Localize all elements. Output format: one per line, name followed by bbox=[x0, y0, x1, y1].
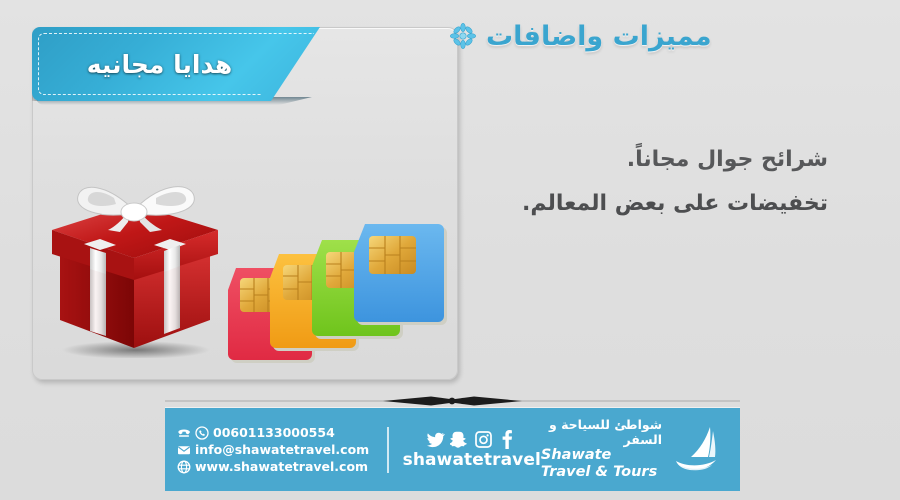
snapchat-icon[interactable] bbox=[450, 430, 469, 449]
company-logo: شواطئ للسياحة و السفر Shawate Travel & T… bbox=[541, 418, 740, 480]
poster-canvas: هدايا مجانيه مميزات واضافات شرا bbox=[0, 0, 900, 500]
features-heading: مميزات واضافات bbox=[450, 14, 870, 58]
footer-divider bbox=[387, 427, 388, 473]
globe-icon bbox=[177, 460, 191, 474]
sailboat-dhow-icon bbox=[670, 425, 728, 475]
logo-english-name: Shawate Travel & Tours bbox=[541, 447, 662, 480]
diamond-divider-icon bbox=[165, 393, 740, 409]
gift-box-illustration bbox=[44, 168, 224, 358]
social-icons-row bbox=[426, 430, 517, 449]
footer-bar: 00601133000554 info@shawatetravel.com bbox=[165, 408, 740, 491]
twitter-icon[interactable] bbox=[426, 430, 445, 449]
sim-cards-illustration bbox=[222, 218, 452, 376]
contact-block: 00601133000554 info@shawatetravel.com bbox=[177, 424, 369, 475]
email-address: info@shawatetravel.com bbox=[195, 441, 369, 458]
contact-row-phone[interactable]: 00601133000554 bbox=[177, 424, 369, 441]
instagram-icon[interactable] bbox=[474, 430, 493, 449]
free-gifts-ribbon: هدايا مجانيه bbox=[32, 27, 320, 101]
facebook-icon[interactable] bbox=[498, 430, 517, 449]
website-url: www.shawatetravel.com bbox=[195, 458, 368, 475]
features-list: شرائح جوال مجاناً. تخفيضات على بعض المعا… bbox=[408, 138, 828, 226]
flower-asterisk-icon bbox=[450, 23, 476, 49]
contact-row-website[interactable]: www.shawatetravel.com bbox=[177, 458, 369, 475]
contact-row-email[interactable]: info@shawatetravel.com bbox=[177, 441, 369, 458]
social-handle: shawatetravel bbox=[403, 450, 541, 470]
social-block: shawatetravel bbox=[403, 430, 541, 470]
features-heading-text: مميزات واضافات bbox=[486, 21, 712, 52]
phone-number: 00601133000554 bbox=[213, 424, 335, 441]
whatsapp-icon bbox=[195, 426, 209, 440]
ribbon-label: هدايا مجانيه bbox=[32, 27, 287, 101]
telephone-icon bbox=[177, 426, 191, 440]
logo-text: شواطئ للسياحة و السفر Shawate Travel & T… bbox=[541, 418, 662, 480]
envelope-icon bbox=[177, 443, 191, 457]
feature-line-1: شرائح جوال مجاناً. bbox=[408, 138, 828, 182]
logo-arabic-name: شواطئ للسياحة و السفر bbox=[541, 418, 662, 447]
feature-line-2: تخفيضات على بعض المعالم. bbox=[408, 182, 828, 226]
